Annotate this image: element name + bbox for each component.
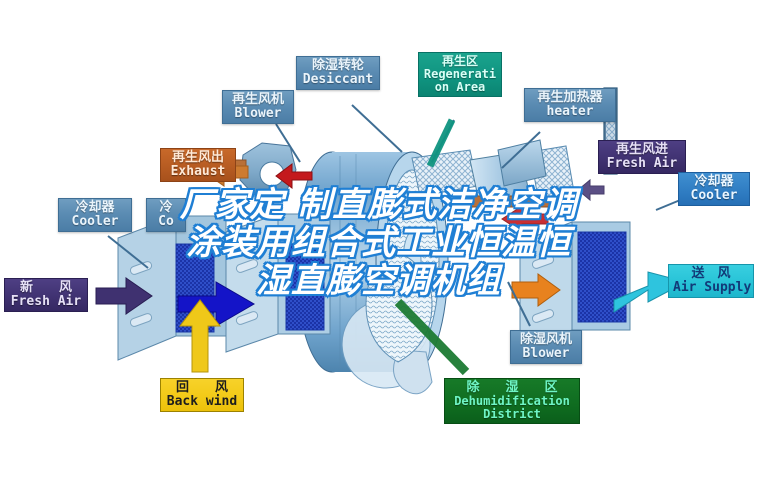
label-fresh-air-en: Fresh Air xyxy=(9,295,83,309)
label-dehumidification-blower[interactable]: 除湿风机 Blower xyxy=(510,330,582,364)
label-regen-area-en: Regenerati xyxy=(423,68,497,81)
label-dehumidification-district[interactable]: 除 湿 区 Dehumidification District xyxy=(444,378,580,424)
label-dehum-blower-en: Blower xyxy=(515,347,577,361)
regen-wheel-arrow-shape xyxy=(502,206,548,232)
label-cooler-inner-cn: 冷 xyxy=(151,201,181,215)
label-cooler-left-en: Cooler xyxy=(63,215,127,229)
label-regen-area-cn: 再生区 xyxy=(423,55,497,68)
label-desiccant-wheel[interactable]: 除湿转轮 Desiccant xyxy=(296,56,380,90)
regen-intake-arrow-shape xyxy=(578,180,604,200)
label-desiccant-en: Desiccant xyxy=(301,73,375,87)
label-air-supply-cn: 送 风 xyxy=(673,267,749,281)
label-air-supply-en: Air Supply xyxy=(673,281,749,295)
label-fresh-air-cn: 新 风 xyxy=(9,281,83,295)
label-exhaust[interactable]: 再生风出 Exhaust xyxy=(160,148,236,182)
label-cooler-left-cn: 冷却器 xyxy=(63,201,127,215)
label-regeneration-fresh-air[interactable]: 再生风进 Fresh Air xyxy=(598,140,686,174)
label-cooler-left-outer[interactable]: 冷却器 Cooler xyxy=(58,198,132,232)
label-regeneration-heater[interactable]: 再生加热器 heater xyxy=(524,88,616,122)
label-heater-en: heater xyxy=(529,105,611,119)
label-regeneration-area[interactable]: 再生区 Regenerati on Area xyxy=(418,52,502,97)
label-cooler-inner-en: Co xyxy=(151,215,181,229)
label-regen-blower-cn: 再生风机 xyxy=(227,93,289,107)
label-fresh-air[interactable]: 新 风 Fresh Air xyxy=(4,278,88,312)
label-regen-area-en2: on Area xyxy=(423,81,497,94)
label-back-wind-en: Back wind xyxy=(165,395,239,409)
diagram-canvas: xtxxx xyxy=(0,0,757,488)
label-exhaust-en: Exhaust xyxy=(165,165,231,179)
label-cooler-right[interactable]: 冷却器 Cooler xyxy=(678,172,750,206)
label-dehum-district-en2: District xyxy=(449,408,575,421)
label-cooler-left-inner[interactable]: 冷 Co xyxy=(146,198,186,232)
label-desiccant-cn: 除湿转轮 xyxy=(301,59,375,73)
label-dehum-district-cn: 除 湿 区 xyxy=(449,381,575,395)
label-regen-fresh-en: Fresh Air xyxy=(603,157,681,171)
label-exhaust-cn: 再生风出 xyxy=(165,151,231,165)
label-regeneration-blower[interactable]: 再生风机 Blower xyxy=(222,90,294,124)
label-regen-fresh-cn: 再生风进 xyxy=(603,143,681,157)
label-cooler-right-cn: 冷却器 xyxy=(683,175,745,189)
label-dehum-blower-cn: 除湿风机 xyxy=(515,333,577,347)
label-back-wind-cn: 回 风 xyxy=(165,381,239,395)
label-heater-cn: 再生加热器 xyxy=(529,91,611,105)
label-back-wind[interactable]: 回 风 Back wind xyxy=(160,378,244,412)
label-cooler-right-en: Cooler xyxy=(683,189,745,203)
label-air-supply[interactable]: 送 风 Air Supply xyxy=(668,264,754,298)
label-regen-blower-en: Blower xyxy=(227,107,289,121)
